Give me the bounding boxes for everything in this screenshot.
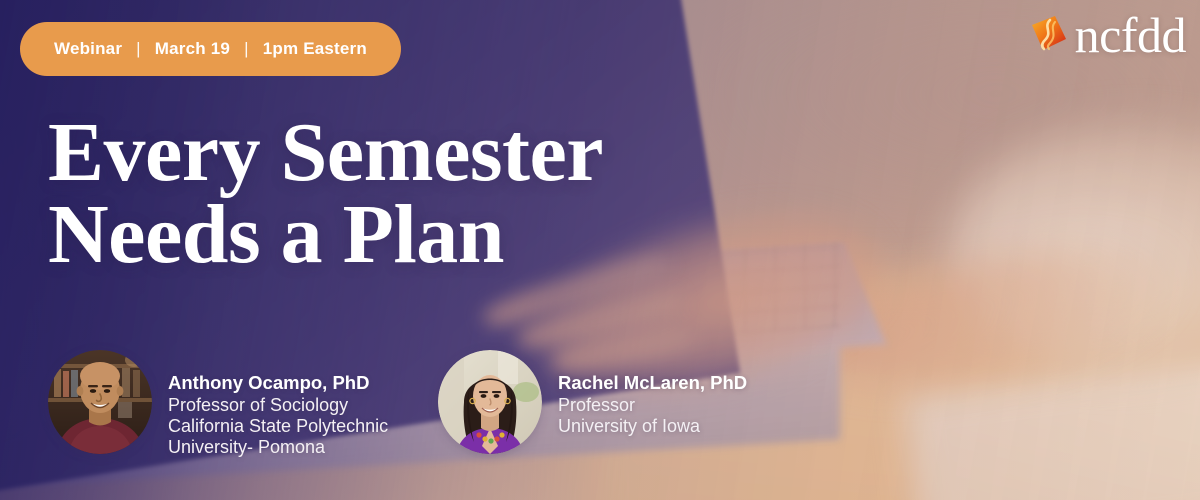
speaker-affiliation: California State Polytechnic [168, 416, 388, 437]
ncfdd-wordmark: ncfdd [1075, 10, 1186, 60]
badge-time-label: 1pm Eastern [263, 39, 367, 59]
speaker-info: Anthony Ocampo, PhD Professor of Sociolo… [168, 350, 388, 459]
speaker-card: Anthony Ocampo, PhD Professor of Sociolo… [48, 350, 438, 459]
headline-line-2: Needs a Plan [48, 194, 603, 276]
speaker-info: Rachel McLaren, PhD Professor University… [558, 350, 747, 437]
speaker-title: Professor [558, 395, 747, 416]
speaker-affiliation: University of Iowa [558, 416, 747, 437]
page-title: Every Semester Needs a Plan [48, 112, 603, 277]
ncfdd-logo: ncfdd [1027, 10, 1186, 60]
speaker-name: Rachel McLaren, PhD [558, 372, 747, 394]
avatar-anthony-ocampo [48, 350, 152, 454]
speakers-list: Anthony Ocampo, PhD Professor of Sociolo… [48, 350, 1200, 459]
ncfdd-flame-diamond-icon [1027, 13, 1071, 57]
badge-event-label: Webinar [54, 39, 122, 59]
event-details-badge: Webinar | March 19 | 1pm Eastern [20, 22, 401, 76]
speaker-name: Anthony Ocampo, PhD [168, 372, 388, 394]
speaker-title: Professor of Sociology [168, 395, 388, 416]
banner-content: Webinar | March 19 | 1pm Eastern Every S… [0, 0, 1200, 500]
badge-separator: | [230, 39, 263, 59]
speaker-card: Rachel McLaren, PhD Professor University… [438, 350, 747, 454]
badge-date-label: March 19 [155, 39, 230, 59]
webinar-promo-banner: Webinar | March 19 | 1pm Eastern Every S… [0, 0, 1200, 500]
avatar-rachel-mclaren [438, 350, 542, 454]
badge-separator: | [122, 39, 155, 59]
headline-line-1: Every Semester [48, 112, 603, 194]
speaker-affiliation: University- Pomona [168, 437, 388, 458]
